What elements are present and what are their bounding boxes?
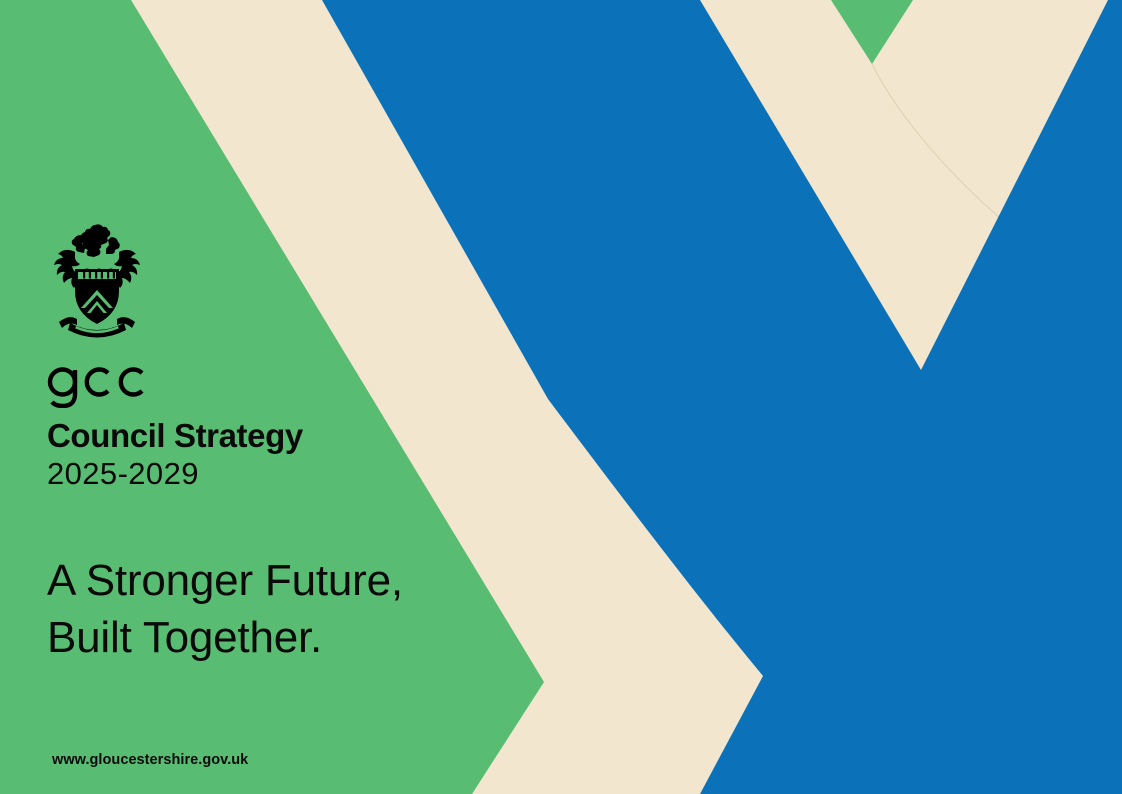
title-block: Council Strategy 2025-2029 (47, 418, 567, 491)
website-link[interactable]: www.gloucestershire.gov.uk (52, 752, 248, 768)
tagline-line-1: A Stronger Future, (47, 552, 607, 609)
page-title: Council Strategy (47, 418, 567, 455)
council-logo (45, 222, 245, 408)
coat-of-arms-crest-icon (45, 222, 149, 350)
strategy-cover-page: Council Strategy 2025-2029 A Stronger Fu… (0, 0, 1122, 794)
gcc-wordmark-icon (45, 356, 149, 408)
strategy-period: 2025-2029 (47, 456, 567, 491)
tagline: A Stronger Future, Built Together. (47, 552, 607, 666)
tagline-line-2: Built Together. (47, 609, 607, 666)
